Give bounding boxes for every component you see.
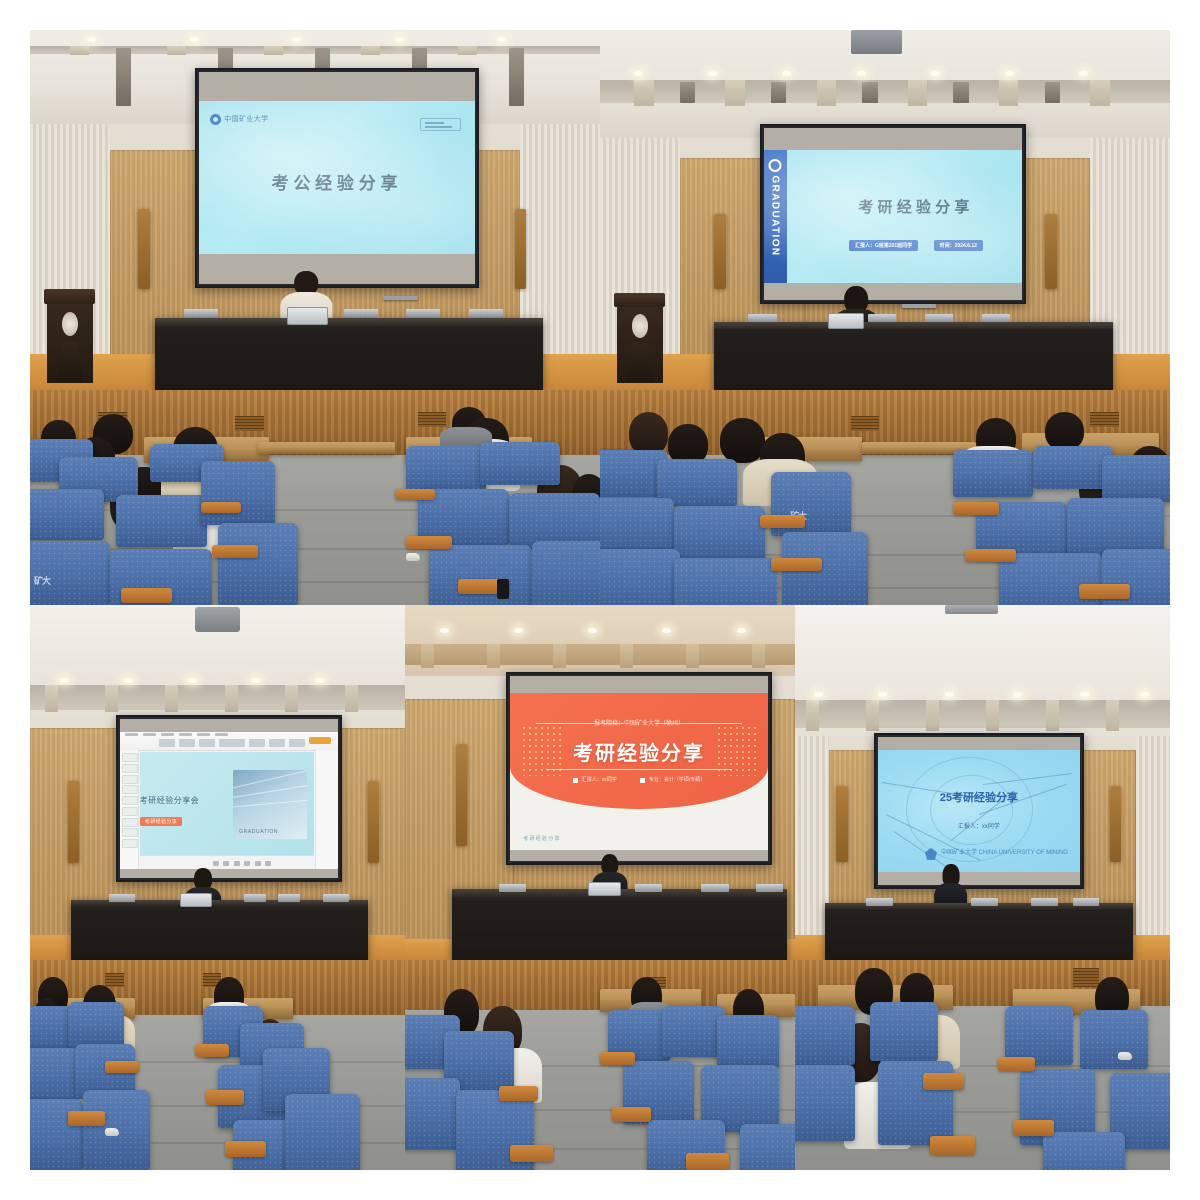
ceiling-fin [725, 80, 744, 106]
ceiling-fin [361, 46, 380, 55]
ceiling-band [405, 644, 795, 665]
ceiling-vent [116, 48, 131, 106]
collage-row-1: 中国矿业大学 考公经验分享 [30, 30, 1170, 390]
downlight [782, 71, 791, 76]
slide-corner-badge [420, 118, 461, 131]
slide-logo-text: 中国矿业大学 CHINA UNIVERSITY OF MINING [941, 850, 1068, 858]
slide-kaoyan-coral: 报考院校：中国矿业大学（徐州） 考研经验分享 汇报人：xx同学 专业：会计（学硕… [510, 693, 767, 850]
wall-speaker [836, 786, 847, 862]
projection-screen: 中国矿业大学 考公经验分享 [195, 68, 478, 288]
downlight [1080, 692, 1089, 697]
ceiling [795, 605, 1170, 736]
slide-item-row: 汇报人：xx同学 专业：会计（学硕/专硕） [510, 776, 767, 783]
armrest [201, 502, 241, 513]
wall-vent [1073, 968, 1099, 987]
slide-item-major: 专业：会计（学硕/专硕） [640, 776, 705, 783]
seat [201, 461, 275, 526]
nameplate [278, 894, 301, 902]
seat [285, 1094, 360, 1170]
desk-row [258, 442, 395, 455]
ceiling-fin [752, 644, 765, 668]
ceiling-fin [264, 46, 283, 55]
photo-collage: 中国矿业大学 考公经验分享 [30, 30, 1170, 1170]
downlight [878, 692, 887, 697]
seat [30, 1099, 83, 1170]
stage-scene: 25考研经验分享 汇报人：xx同学 中国矿业大学 CHINA UNIVERSIT… [795, 605, 1170, 960]
slide-footer: 考研经验分享 [523, 835, 561, 842]
downlight [440, 628, 449, 633]
ceiling-fin [487, 644, 500, 668]
screen-mat: 25考研经验分享 汇报人：xx同学 中国矿业大学 CHINA UNIVERSIT… [878, 737, 1080, 886]
ceiling-fin [634, 80, 653, 106]
armrest [499, 1086, 538, 1101]
seat [795, 1006, 855, 1065]
ppt-status-bar [140, 855, 314, 868]
armrest [930, 1136, 975, 1155]
downlight [945, 692, 954, 697]
nameplate [1031, 898, 1057, 906]
ceiling-fin [167, 46, 186, 55]
armrest [998, 1057, 1036, 1072]
nameplate [925, 314, 954, 322]
ceiling-vent [862, 82, 877, 104]
photo-panel-1[interactable]: 中国矿业大学 考公经验分享 [30, 30, 600, 390]
head-table [155, 318, 543, 390]
seat [68, 1002, 124, 1048]
ceiling-vent [1045, 82, 1060, 104]
phone [497, 579, 509, 599]
seat [674, 506, 765, 562]
ceiling-projector [195, 607, 240, 632]
seat [600, 498, 674, 554]
ceiling-fin [105, 685, 118, 712]
wall-speaker [1110, 786, 1121, 862]
downlight [814, 692, 823, 697]
wall-speaker [368, 781, 379, 863]
downlight [857, 71, 866, 76]
armrest [771, 558, 822, 571]
seat: 矿大 [30, 541, 110, 606]
ppt-slide-photo: GRADUATION [233, 770, 307, 838]
ppt-toolbar [159, 739, 305, 747]
armrest [760, 515, 806, 528]
ceiling-fin [225, 685, 238, 712]
podium-emblem [62, 312, 78, 336]
seat-logo-text: 矿大 [34, 574, 50, 587]
slide-kaoyan-graduation: GRADUATION 考研经验分享 汇报人：G班第201班同学 时间：2024.… [764, 150, 1022, 283]
podium-emblem [632, 314, 648, 337]
nameplate [344, 309, 378, 317]
slide-logo-text: 中国矿业大学 [224, 114, 268, 124]
wall-speaker [1045, 214, 1057, 290]
seat [406, 446, 486, 493]
nameplate [1073, 898, 1099, 906]
armrest [225, 1141, 266, 1158]
laptop [180, 893, 212, 907]
collage-row-3: 考研经验分享会 考研经验分享 GRADUATION [30, 605, 1170, 960]
ceiling-vent [953, 82, 968, 104]
screen-mat: 中国矿业大学 考公经验分享 [199, 72, 474, 284]
seat [532, 541, 600, 606]
slide-title: 考研经验分享 [764, 196, 1022, 217]
laptop [287, 307, 329, 325]
seat [662, 1006, 724, 1056]
downlight [1013, 692, 1022, 697]
ppt-side-panel [315, 750, 338, 869]
seat [600, 549, 680, 605]
audience-scene [405, 960, 795, 1170]
downlight [292, 37, 301, 42]
downlight [315, 678, 324, 683]
nameplate [323, 894, 349, 902]
downlight [190, 37, 199, 42]
table-top [714, 322, 1113, 330]
downlight [60, 678, 69, 683]
screen-mat: 报考院校：中国矿业大学（徐州） 考研经验分享 汇报人：xx同学 专业：会计（学硕… [510, 676, 767, 860]
collage-row-4 [30, 960, 1170, 1170]
projection-screen: 考研经验分享会 考研经验分享 GRADUATION [116, 715, 341, 882]
ceiling-fin [620, 644, 633, 668]
microphone [383, 296, 417, 300]
wall-speaker [714, 214, 726, 290]
downlight [251, 678, 260, 683]
armrest [105, 1061, 139, 1074]
photo-panel-8[interactable] [30, 960, 405, 1170]
armrest [395, 489, 435, 500]
ceiling-fin [1090, 80, 1109, 106]
nameplate [406, 309, 440, 317]
nameplate [756, 884, 783, 892]
nameplate [868, 314, 897, 322]
screen-image: 考研经验分享会 考研经验分享 GRADUATION [120, 732, 337, 869]
seat [116, 495, 207, 547]
wall-vent [235, 416, 264, 431]
seat [953, 450, 1033, 497]
podium-leg [626, 342, 653, 383]
attendee-head [629, 412, 669, 455]
ceiling [30, 605, 405, 719]
projection-screen: 报考院校：中国矿业大学（徐州） 考研经验分享 汇报人：xx同学 专业：会计（学硕… [506, 672, 771, 864]
armrest [195, 1044, 229, 1057]
projection-screen: GRADUATION 考研经验分享 汇报人：G班第201班同学 时间：2024.… [760, 124, 1026, 304]
slide-meta-row: 汇报人：G班第201班同学 时间：2024.6.12 [764, 240, 1022, 251]
wall-speaker [68, 781, 79, 863]
wall-vent [418, 412, 447, 427]
wall-vent [1090, 412, 1119, 427]
seat [795, 1065, 855, 1141]
wall-speaker [515, 209, 527, 289]
photo-panel-3[interactable]: 考研经验分享会 考研经验分享 GRADUATION [30, 605, 405, 960]
ceiling-fin [421, 644, 434, 668]
downlight [124, 678, 133, 683]
podium [617, 293, 663, 383]
downlight [1140, 692, 1149, 697]
ceiling-vent [680, 82, 695, 104]
shoe [105, 1128, 119, 1136]
slide-subtitle: 汇报人：xx同学 [878, 821, 1080, 830]
photo-panel-10[interactable] [795, 960, 1170, 1170]
slide-meta-presenter: 汇报人：G班第201班同学 [849, 240, 918, 251]
ceiling-fin [45, 685, 58, 712]
head-table [825, 903, 1133, 960]
stage-scene: GRADUATION 考研经验分享 汇报人：G班第201班同学 时间：2024.… [600, 30, 1170, 390]
photo-panel-4[interactable]: 报考院校：中国矿业大学（徐州） 考研经验分享 汇报人：xx同学 专业：会计（学硕… [405, 605, 795, 960]
ppt-share-button [309, 737, 331, 744]
downlight [1005, 71, 1014, 76]
screen-image: 报考院校：中国矿业大学（徐州） 考研经验分享 汇报人：xx同学 专业：会计（学硕… [510, 693, 767, 850]
slide-kaoyan-tech: 25考研经验分享 汇报人：xx同学 中国矿业大学 CHINA UNIVERSIT… [878, 750, 1080, 872]
screen-image: 中国矿业大学 考公经验分享 [199, 101, 474, 254]
wall-drape [1136, 736, 1170, 960]
slide-powerpoint-editor: 考研经验分享会 考研经验分享 GRADUATION [120, 732, 337, 869]
sidebar-label: GRADUATION [770, 176, 781, 257]
ceiling-projector [851, 30, 902, 54]
ppt-tab-strip [125, 733, 228, 736]
downlight [588, 628, 597, 633]
photo-panel-5[interactable]: 25考研经验分享 汇报人：xx同学 中国矿业大学 CHINA UNIVERSIT… [795, 605, 1170, 960]
downlight [87, 37, 96, 42]
shoe [1118, 1052, 1132, 1060]
stage-scene: 中国矿业大学 考公经验分享 [30, 30, 600, 390]
armrest [68, 1111, 106, 1126]
armrest [953, 502, 999, 515]
ceiling-fin [70, 46, 89, 55]
armrest [612, 1107, 651, 1122]
slide-item-presenter: 汇报人：xx同学 [573, 776, 617, 783]
downlight [634, 71, 643, 76]
wall-vent [105, 973, 124, 988]
ceiling-fin [866, 700, 879, 732]
nameplate [701, 884, 728, 892]
downlight [188, 678, 197, 683]
wall-speaker [456, 744, 468, 846]
ppt-slide-badge: 考研经验分享 [140, 817, 182, 826]
nameplate [635, 884, 662, 892]
slide-university-logo: 中国矿业大学 [210, 114, 268, 125]
head-table [452, 889, 787, 960]
table-top [155, 318, 543, 326]
seat [429, 545, 532, 605]
armrest [206, 1090, 244, 1105]
armrest [965, 549, 1016, 562]
ppt-photo-caption: GRADUATION [239, 829, 278, 835]
downlight [708, 71, 717, 76]
seat [480, 442, 560, 485]
laptop [588, 882, 621, 896]
ceiling-fin [926, 700, 939, 732]
slide-subtitle: 报考院校：中国矿业大学（徐州） [510, 718, 767, 727]
armrest [1079, 584, 1130, 599]
seat [405, 1078, 460, 1149]
ceiling-fin [908, 80, 927, 106]
downlight [931, 71, 940, 76]
ppt-ribbon [120, 732, 337, 751]
ceiling-fin [686, 644, 699, 668]
ceiling [600, 30, 1170, 138]
armrest [1013, 1120, 1054, 1137]
ceiling-fin [458, 46, 477, 55]
downlight [662, 628, 671, 633]
armrest [923, 1073, 964, 1090]
nameplate [499, 884, 526, 892]
seat [30, 1048, 79, 1103]
armrest [686, 1153, 729, 1170]
nameplate [184, 309, 218, 317]
nameplate [982, 314, 1011, 322]
ceiling-vent [509, 48, 524, 106]
armrest [121, 588, 172, 603]
ceiling [405, 605, 795, 676]
photo-panel-6[interactable]: 矿大 [30, 390, 600, 605]
shoe [406, 553, 420, 561]
armrest [600, 1052, 635, 1065]
ceiling-fin [1046, 700, 1059, 732]
nameplate [244, 894, 267, 902]
seat [1102, 455, 1170, 502]
screen-image: GRADUATION 考研经验分享 汇报人：G班第201班同学 时间：2024.… [764, 150, 1022, 283]
projection-screen: 25考研经验分享 汇报人：xx同学 中国矿业大学 CHINA UNIVERSIT… [874, 733, 1084, 890]
slide-title: 考公经验分享 [199, 169, 474, 194]
sidebar-ring-icon [769, 159, 782, 172]
laptop [828, 313, 864, 329]
ceiling-fin [999, 80, 1018, 106]
stage-scene: 报考院校：中国矿业大学（徐州） 考研经验分享 汇报人：xx同学 专业：会计（学硕… [405, 605, 795, 960]
seat [870, 1002, 938, 1061]
shield-icon [925, 848, 937, 860]
slide-sidebar: GRADUATION [764, 150, 787, 283]
head-table [714, 322, 1113, 390]
photo-panel-2[interactable]: GRADUATION 考研经验分享 汇报人：G班第201班同学 时间：2024.… [600, 30, 1170, 390]
ceiling-fin [553, 644, 566, 668]
ceiling-projector [945, 605, 998, 614]
armrest [510, 1145, 553, 1162]
screen-image: 25考研经验分享 汇报人：xx同学 中国矿业大学 CHINA UNIVERSIT… [878, 750, 1080, 872]
audience-scene [30, 960, 405, 1170]
ceiling-vent [771, 82, 786, 104]
podium-top [614, 293, 665, 307]
downlight [737, 628, 746, 633]
photo-panel-7[interactable]: 矿大 [600, 390, 1170, 605]
nameplate [109, 894, 135, 902]
downlight [497, 37, 506, 42]
seat [30, 489, 104, 541]
seat [740, 1124, 795, 1170]
podium-top [44, 289, 95, 304]
armrest [406, 536, 452, 549]
audience-scene: 矿大 [30, 390, 600, 605]
wall-drape [795, 736, 829, 960]
nameplate [866, 898, 892, 906]
ceiling-fin [345, 685, 358, 712]
slide-meta-date: 时间：2024.6.12 [934, 240, 983, 251]
microphone [902, 304, 936, 308]
downlight [514, 628, 523, 633]
screen-mat: 考研经验分享会 考研经验分享 GRADUATION [120, 719, 337, 878]
seat [1043, 1132, 1126, 1170]
head-table [71, 900, 367, 960]
wall-speaker [138, 209, 150, 289]
downlight [1079, 71, 1088, 76]
ceiling-fin [1106, 700, 1119, 732]
seat [218, 523, 298, 605]
nameplate [748, 314, 777, 322]
attendee-head [1045, 412, 1085, 451]
seat [717, 1015, 779, 1070]
ceiling-fin [806, 700, 819, 732]
ceiling-fin [986, 700, 999, 732]
slide-top-band: 报考院校：中国矿业大学（徐州） 考研经验分享 汇报人：xx同学 专业：会计（学硕… [510, 693, 767, 809]
stage-scene: 考研经验分享会 考研经验分享 GRADUATION [30, 605, 405, 960]
collage-row-2: 矿大 [30, 390, 1170, 605]
ceiling-fin [817, 80, 836, 106]
audience-scene [795, 960, 1170, 1170]
seat [1080, 1010, 1148, 1069]
armrest [212, 545, 258, 558]
podium-leg [56, 341, 83, 383]
attendee-head [720, 418, 766, 463]
nameplate [469, 309, 503, 317]
ceiling-fin [165, 685, 178, 712]
downlight [395, 37, 404, 42]
slide-kaogong: 中国矿业大学 考公经验分享 [199, 101, 474, 254]
ceiling-fin [285, 685, 298, 712]
slide-title: 25考研经验分享 [878, 789, 1080, 805]
podium [47, 289, 93, 383]
photo-panel-9[interactable] [405, 960, 795, 1170]
ppt-slide-headline: 考研经验分享会 [140, 795, 199, 806]
slide-university-logo: 中国矿业大学 CHINA UNIVERSITY OF MINING [925, 848, 1068, 860]
screen-mat: GRADUATION 考研经验分享 汇报人：G班第201班同学 时间：2024.… [764, 128, 1022, 300]
wall-vent [851, 416, 880, 431]
audience-scene: 矿大 [600, 390, 1170, 605]
nameplate [971, 898, 997, 906]
slide-title: 考研经验分享 [510, 737, 767, 766]
ppt-slide-panel [120, 750, 138, 869]
logo-ring-icon [210, 114, 221, 125]
seat [674, 558, 777, 605]
